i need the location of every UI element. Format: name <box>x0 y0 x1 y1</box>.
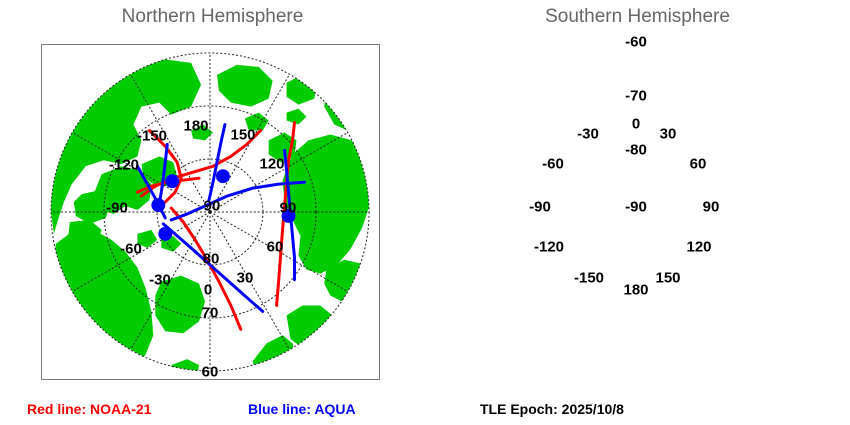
sh-label-lon-60: 60 <box>690 157 707 172</box>
sh-label-lon-m90: -90 <box>529 200 551 215</box>
sh-label-lon-90: 90 <box>703 200 720 215</box>
nh-label-lon-0: 0 <box>204 283 212 298</box>
nh-label-lon-30: 30 <box>237 271 254 286</box>
sh-label-lon-30: 30 <box>660 127 677 142</box>
page-title-northern: Northern Hemisphere <box>0 6 425 28</box>
sh-label-lat-m90: -90 <box>625 200 647 215</box>
nh-label-lon-150: 150 <box>230 128 255 143</box>
marker-group <box>151 169 295 241</box>
nh-label-lon-m150: -150 <box>137 129 167 144</box>
nh-label-lon-120: 120 <box>259 157 284 172</box>
tle-epoch-label: TLE Epoch: 2025/10/8 <box>480 401 624 417</box>
legend-blue-aqua: Blue line: AQUA <box>248 401 356 417</box>
nh-label-lon-m120: -120 <box>109 158 139 173</box>
southern-hemisphere-panel: Southern Hemisphere <box>425 0 850 425</box>
nh-label-lon-180: 180 <box>183 119 208 134</box>
sh-label-lon-m150: -150 <box>574 271 604 286</box>
nh-label-lat-60: 60 <box>202 365 219 380</box>
northern-hemisphere-panel: Northern Hemisphere <box>0 0 425 425</box>
sh-label-lat-m70: -70 <box>625 89 647 104</box>
sh-label-lon-0: 0 <box>632 117 640 132</box>
sh-label-lon-m30: -30 <box>577 127 599 142</box>
nh-label-lon-m90: -90 <box>106 201 128 216</box>
nh-label-lat-80: 80 <box>203 252 220 267</box>
nh-label-lat-90: 90 <box>204 199 221 214</box>
nh-label-lat-70: 70 <box>202 306 219 321</box>
sh-label-lat-m80: -80 <box>625 143 647 158</box>
sh-label-lat-m60: -60 <box>625 35 647 50</box>
nh-label-lon-90: 90 <box>280 201 297 216</box>
page-title-southern: Southern Hemisphere <box>425 6 850 28</box>
sh-label-lon-180: 180 <box>623 283 648 298</box>
sh-label-lon-m60: -60 <box>542 157 564 172</box>
sh-label-lon-120: 120 <box>686 240 711 255</box>
sh-label-lon-m120: -120 <box>534 240 564 255</box>
nh-label-lon-m60: -60 <box>120 242 142 257</box>
sh-label-lon-150: 150 <box>655 271 680 286</box>
legend-red-noaa21: Red line: NOAA-21 <box>27 401 151 417</box>
nh-label-lon-60: 60 <box>267 240 284 255</box>
nh-label-lon-m30: -30 <box>149 273 171 288</box>
